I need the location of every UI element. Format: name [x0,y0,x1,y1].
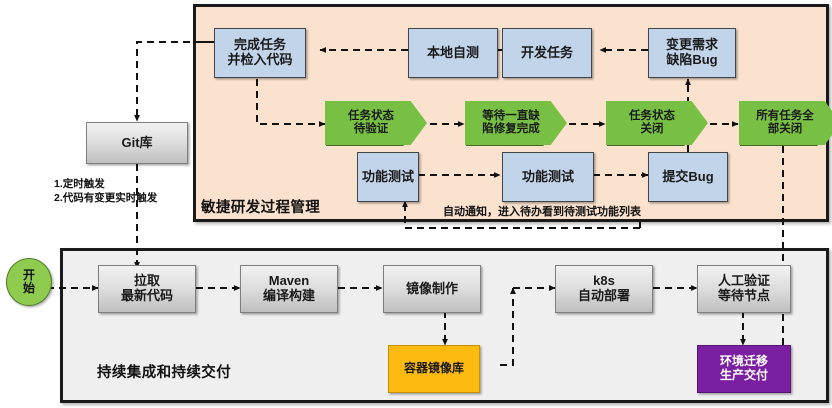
node-git-repo[interactable]: Git库 [86,122,188,164]
node-start[interactable]: 开 始 [6,258,52,306]
node-image-build[interactable]: 镜像制作 [383,265,481,313]
node-container-registry[interactable]: 容器镜像库 [388,345,480,393]
edge-finish-to-pendingverify [257,79,325,124]
diagram-canvas: 完成任务 并检入代码 本地自测 开发任务 变更需求 缺陷Bug 任务状态 待验证… [0,0,832,408]
panel-agile-label: 敏捷研发过程管理 [201,196,320,217]
node-env-migrate-prod[interactable]: 环境迁移 生产交付 [697,345,791,393]
state-all-closed[interactable]: 所有任务全 部关闭 [739,101,832,145]
state-closed[interactable]: 任务状态 关闭 [606,101,708,145]
agile-note: 自动通知，进入待办看到待测试功能列表 [443,203,641,219]
node-func-test-2[interactable]: 功能测试 [502,152,594,202]
node-dev-task[interactable]: 开发任务 [502,28,592,78]
state-pending-verify[interactable]: 任务状态 待验证 [325,101,427,145]
state-wait-fix[interactable]: 等待一直缺 陷修复完成 [465,101,567,145]
node-manual-verify[interactable]: 人工验证 等待节点 [697,265,791,313]
node-local-test[interactable]: 本地自测 [408,28,498,78]
edge-finish-to-gitrepo [137,42,214,121]
node-func-test-1[interactable]: 功能测试 [357,152,419,202]
node-finish-task[interactable]: 完成任务 并检入代码 [214,28,306,78]
node-k8s-deploy[interactable]: k8s 自动部署 [555,265,653,313]
node-maven-build[interactable]: Maven 编译构建 [240,265,338,313]
edge-registry-to-k8s [500,288,513,365]
trigger-note: 1.定时触发 2.代码有变更实时触发 [54,177,157,205]
node-change-bug[interactable]: 变更需求 缺陷Bug [648,28,736,78]
panel-cicd-label: 持续集成和持续交付 [97,361,231,382]
node-pull-code[interactable]: 拉取 最新代码 [98,265,196,313]
edge-allclosed-to-delivery [743,146,783,365]
node-submit-bug[interactable]: 提交Bug [648,152,728,202]
